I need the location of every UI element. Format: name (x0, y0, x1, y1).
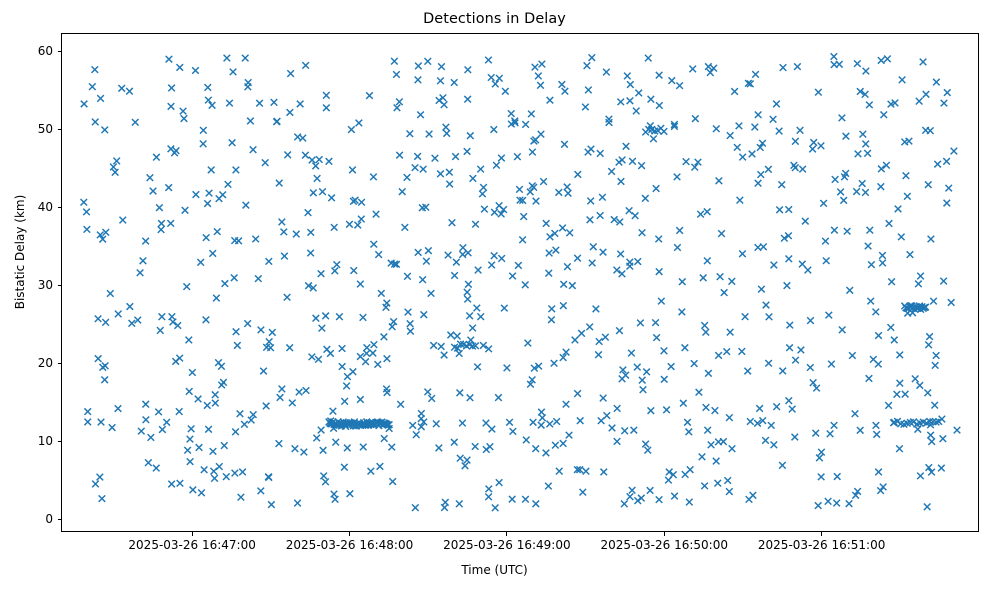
x-tick-mark (506, 532, 507, 536)
x-tick-mark (349, 532, 350, 536)
x-tick-mark (192, 532, 193, 536)
chart-title: Detections in Delay (0, 11, 989, 27)
x-tick-label: 2025-03-26 16:50:00 (601, 538, 728, 552)
scatter-series (62, 34, 978, 531)
y-tick-label: 30 (13, 278, 53, 292)
y-tick-label: 40 (13, 200, 53, 214)
x-tick-label: 2025-03-26 16:48:00 (286, 538, 413, 552)
y-tick-label: 20 (13, 356, 53, 370)
x-tick-label: 2025-03-26 16:49:00 (443, 538, 570, 552)
x-tick-mark (664, 532, 665, 536)
x-tick-label: 2025-03-26 16:47:00 (128, 538, 255, 552)
figure-canvas: Detections in Delay Bistatic Delay (km) … (0, 0, 989, 590)
y-axis-label: Bistatic Delay (km) (13, 152, 27, 352)
x-axis-label: Time (UTC) (0, 563, 989, 577)
y-tick-label: 50 (13, 122, 53, 136)
x-tick-label: 2025-03-26 16:51:00 (758, 538, 885, 552)
y-tick-label: 0 (13, 512, 53, 526)
plot-area (61, 33, 979, 532)
y-tick-label: 60 (13, 44, 53, 58)
x-tick-mark (821, 532, 822, 536)
y-tick-label: 10 (13, 434, 53, 448)
